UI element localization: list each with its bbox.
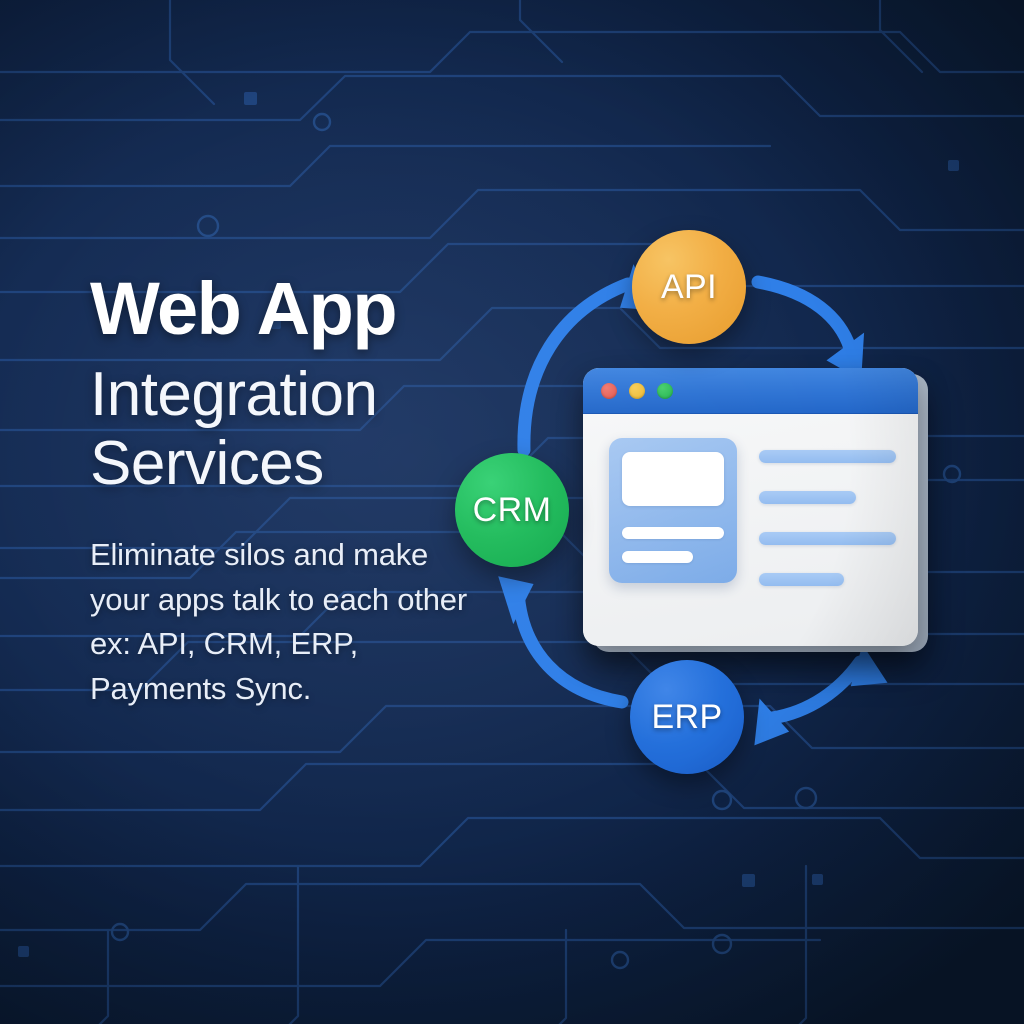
node-label-api: API [661,268,717,307]
text-bar [759,491,856,504]
window-content [583,414,918,646]
node-badge-erp[interactable]: ERP [630,660,744,774]
text-bar [759,532,896,545]
headline-line-2: Integration Services [90,360,490,499]
close-icon[interactable] [601,383,617,399]
node-badge-api[interactable]: API [632,230,746,344]
card-image-placeholder [622,452,724,506]
card-text-bar [622,527,724,539]
browser-window [583,368,918,646]
arrow-path-api-to-right [758,282,850,348]
minimize-icon[interactable] [629,383,645,399]
arrow-path-erp-bidirectional [772,662,860,718]
text-bar [759,573,844,586]
browser-window-mock [583,368,918,646]
integration-diagram: API CRM ERP [440,200,960,820]
headline-word-integration: Integration [90,360,490,429]
headline-line-1: Web App [90,272,490,346]
headline-word-services: Services [90,429,490,498]
window-titlebar [583,368,918,414]
node-label-crm: CRM [473,491,552,530]
content-text-bars [759,438,896,626]
maximize-icon[interactable] [657,383,673,399]
node-badge-crm[interactable]: CRM [455,453,569,567]
node-label-erp: ERP [651,698,722,737]
text-bar [759,450,896,463]
sub-headline: Eliminate silos and make your apps talk … [90,533,480,712]
content-card [609,438,737,583]
copy-block: Web App Integration Services Eliminate s… [90,272,490,711]
card-text-bar [622,551,693,563]
poster-canvas: Web App Integration Services Eliminate s… [0,0,1024,1024]
